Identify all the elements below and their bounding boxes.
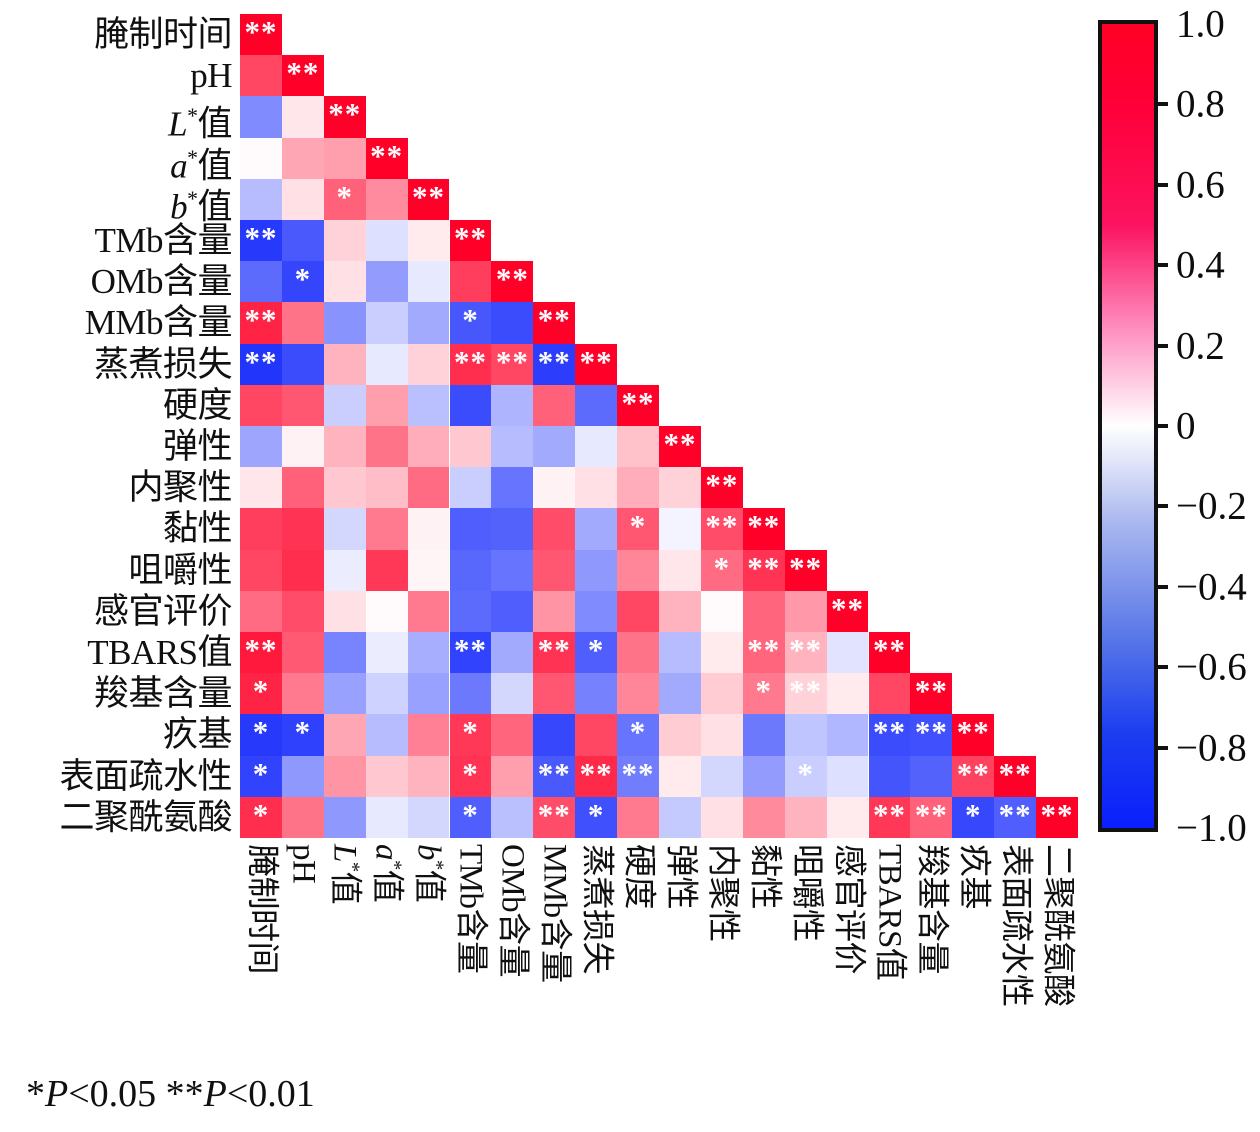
significance-marker: ** [659, 426, 701, 467]
heatmap-cell [366, 261, 408, 302]
significance-marker: * [450, 756, 492, 797]
significance-marker: ** [240, 220, 282, 261]
significance-marker: ** [533, 756, 575, 797]
col-label-17: 疚基 [952, 844, 994, 1069]
heatmap-cell [366, 550, 408, 591]
col-label-3: a*值 [366, 844, 408, 1069]
colorbar: 1.00.80.60.40.20−0.2−0.4−0.6−0.8−1.0 [1098, 20, 1164, 836]
legend-p-two: P [204, 1073, 227, 1115]
colorbar-tick-label: −1.0 [1176, 809, 1247, 848]
significance-marker: ** [1036, 797, 1078, 838]
heatmap-cell [491, 756, 533, 797]
heatmap-cell [491, 673, 533, 714]
heatmap-cell: * [701, 550, 743, 591]
heatmap-cell [408, 220, 450, 261]
heatmap-cell [785, 797, 827, 838]
heatmap-cell [324, 344, 366, 385]
heatmap-cell [659, 467, 701, 508]
heatmap-cell [282, 756, 324, 797]
heatmap-cell: * [743, 673, 785, 714]
significance-marker: * [240, 756, 282, 797]
heatmap-cell [282, 179, 324, 220]
col-label-9: 硬度 [617, 844, 659, 1069]
heatmap-cell [743, 714, 785, 755]
heatmap-cell: ** [533, 302, 575, 343]
heatmap-cell [491, 426, 533, 467]
heatmap-cell [491, 467, 533, 508]
significance-marker: * [701, 550, 743, 591]
heatmap-cell [450, 385, 492, 426]
col-label-12: 黏性 [743, 844, 785, 1069]
significance-marker: * [282, 261, 324, 302]
heatmap-cell [324, 591, 366, 632]
heatmap-cell [701, 714, 743, 755]
heatmap-cell: ** [533, 756, 575, 797]
colorbar-tick-label: −0.4 [1176, 567, 1247, 606]
heatmap-cell [324, 261, 366, 302]
heatmap-cell [491, 591, 533, 632]
significance-marker: ** [869, 797, 911, 838]
heatmap-cell [408, 385, 450, 426]
row-label-10: 弹性 [163, 426, 232, 467]
col-label-0: 腌制时间 [240, 844, 282, 1069]
heatmap-cell [743, 591, 785, 632]
significance-marker: ** [533, 302, 575, 343]
heatmap-cell [366, 220, 408, 261]
heatmap-cell [533, 467, 575, 508]
col-label-2: L*值 [324, 844, 366, 1069]
heatmap-cell [324, 467, 366, 508]
row-label-0: 腌制时间 [94, 14, 232, 55]
row-label-4: b*值 [170, 179, 232, 220]
heatmap-cell [366, 426, 408, 467]
heatmap-cell [533, 508, 575, 549]
heatmap-cell [575, 550, 617, 591]
heatmap-cell [701, 632, 743, 673]
heatmap-cell [324, 385, 366, 426]
heatmap-cell: ** [701, 508, 743, 549]
heatmap-cell [324, 426, 366, 467]
significance-marker: ** [450, 344, 492, 385]
heatmap-cell [617, 797, 659, 838]
heatmap-cell [617, 426, 659, 467]
row-label-19: 二聚酰氨酸 [59, 797, 232, 838]
heatmap-cell [617, 550, 659, 591]
legend-star-one: * [26, 1073, 45, 1115]
significance-marker: ** [869, 714, 911, 755]
heatmap-cell: ** [701, 467, 743, 508]
colorbar-tick [1154, 585, 1168, 589]
heatmap-cell: ** [659, 426, 701, 467]
heatmap-cell: ** [240, 220, 282, 261]
heatmap-cell [450, 673, 492, 714]
heatmap-cell [450, 550, 492, 591]
heatmap-cell [282, 550, 324, 591]
heatmap-cell: * [575, 632, 617, 673]
row-label-5: TMb含量 [94, 220, 232, 261]
heatmap-cell [240, 591, 282, 632]
heatmap-cell [575, 673, 617, 714]
heatmap-cell: ** [450, 220, 492, 261]
heatmap-cell [324, 797, 366, 838]
col-label-15: TBARS值 [869, 844, 911, 1069]
heatmap-cell [743, 797, 785, 838]
significance-marker: ** [282, 55, 324, 96]
heatmap-cell [491, 508, 533, 549]
heatmap-cell [282, 344, 324, 385]
significance-marker: ** [366, 138, 408, 179]
significance-marker: ** [827, 591, 869, 632]
heatmap-cell [450, 426, 492, 467]
heatmap-cell [869, 756, 911, 797]
heatmap-cell: ** [785, 632, 827, 673]
heatmap-cell: ** [617, 385, 659, 426]
heatmap-cell: ** [869, 714, 911, 755]
row-label-2: L*值 [168, 96, 232, 137]
heatmap-cell [910, 756, 952, 797]
significance-marker: ** [450, 632, 492, 673]
heatmap-cell [659, 756, 701, 797]
row-label-17: 疚基 [163, 714, 232, 755]
significance-marker: ** [324, 96, 366, 137]
significance-marker: * [617, 714, 659, 755]
heatmap-cell: ** [366, 138, 408, 179]
heatmap-cell [701, 756, 743, 797]
heatmap-cell [240, 550, 282, 591]
heatmap-cell [324, 756, 366, 797]
heatmap-cell [827, 673, 869, 714]
heatmap-cell [450, 508, 492, 549]
colorbar-tick [1154, 102, 1168, 106]
heatmap-cell [659, 508, 701, 549]
legend-star-two: ** [166, 1073, 204, 1115]
heatmap-cell [575, 508, 617, 549]
heatmap-cell: ** [450, 344, 492, 385]
heatmap-cell [827, 797, 869, 838]
colorbar-tick-label: 0.8 [1176, 85, 1225, 124]
heatmap-cell: ** [282, 55, 324, 96]
significance-marker: ** [240, 344, 282, 385]
heatmap-cell: ** [785, 550, 827, 591]
heatmap-cell [869, 673, 911, 714]
heatmap-cell [366, 179, 408, 220]
heatmap-grid: ****************************************… [240, 14, 1078, 838]
heatmap-cell [324, 508, 366, 549]
heatmap-cell: ** [952, 756, 994, 797]
heatmap-cell: * [952, 797, 994, 838]
col-label-4: b*值 [408, 844, 450, 1069]
col-label-18: 表面疏水性 [994, 844, 1036, 1069]
heatmap-cell: ** [324, 96, 366, 137]
significance-marker: ** [575, 756, 617, 797]
heatmap-cell [701, 673, 743, 714]
heatmap-cell [575, 385, 617, 426]
significance-marker: ** [450, 220, 492, 261]
heatmap-cell [366, 467, 408, 508]
row-label-8: 蒸煮损失 [94, 344, 232, 385]
row-label-11: 内聚性 [128, 467, 232, 508]
significance-marker: ** [910, 714, 952, 755]
col-label-5: TMb含量 [450, 844, 492, 1069]
heatmap-cell [827, 756, 869, 797]
heatmap-cell [617, 673, 659, 714]
colorbar-gradient [1098, 20, 1158, 832]
significance-marker: * [575, 632, 617, 673]
heatmap-cell: ** [491, 344, 533, 385]
heatmap-cell [282, 426, 324, 467]
significance-marker: * [450, 302, 492, 343]
heatmap-cell [408, 797, 450, 838]
heatmap-cell [408, 508, 450, 549]
heatmap-cell [785, 714, 827, 755]
legend-p-one: P [45, 1073, 68, 1115]
heatmap-cell [659, 632, 701, 673]
colorbar-tick [1154, 746, 1168, 750]
colorbar-tick-label: −0.2 [1176, 487, 1247, 526]
heatmap-cell: * [282, 714, 324, 755]
heatmap-cell: ** [533, 344, 575, 385]
significance-marker: ** [617, 756, 659, 797]
heatmap-cell [408, 550, 450, 591]
heatmap-cell [408, 467, 450, 508]
row-axis-labels: 腌制时间pHL*值a*值b*值TMb含量OMb含量MMb含量蒸煮损失硬度弹性内聚… [0, 14, 236, 838]
heatmap-cell [659, 673, 701, 714]
heatmap-cell [366, 591, 408, 632]
heatmap-cell [282, 138, 324, 179]
significance-marker: ** [743, 508, 785, 549]
heatmap-cell [324, 550, 366, 591]
colorbar-tick [1154, 344, 1168, 348]
colorbar-tick-label: −0.6 [1176, 648, 1247, 687]
colorbar-tick-label: 0.6 [1176, 165, 1225, 204]
heatmap-cell [785, 591, 827, 632]
row-label-3: a*值 [170, 138, 232, 179]
row-label-12: 黏性 [163, 508, 232, 549]
significance-marker: ** [910, 797, 952, 838]
significance-marker: ** [617, 385, 659, 426]
heatmap-cell [282, 508, 324, 549]
heatmap-cell [240, 96, 282, 137]
row-label-15: TBARS值 [87, 632, 232, 673]
heatmap-cell [366, 344, 408, 385]
significance-marker: ** [743, 550, 785, 591]
heatmap-cell: * [324, 179, 366, 220]
significance-marker: * [240, 714, 282, 755]
heatmap-cell [659, 550, 701, 591]
column-axis-labels: 腌制时间pHL*值a*值b*值TMb含量OMb含量MMb含量蒸煮损失硬度弹性内聚… [240, 844, 1080, 1069]
heatmap-cell [282, 797, 324, 838]
heatmap-cell [282, 632, 324, 673]
heatmap-cell: * [450, 302, 492, 343]
significance-marker: ** [743, 632, 785, 673]
heatmap-cell [366, 632, 408, 673]
heatmap-cell [491, 302, 533, 343]
heatmap-cell: * [617, 714, 659, 755]
col-label-6: OMb含量 [491, 844, 533, 1069]
significance-marker: ** [533, 797, 575, 838]
heatmap-cell [324, 673, 366, 714]
colorbar-tick [1154, 665, 1168, 669]
significance-marker: * [282, 714, 324, 755]
heatmap-cell: ** [994, 756, 1036, 797]
heatmap-cell [617, 591, 659, 632]
heatmap-cell [827, 714, 869, 755]
row-label-9: 硬度 [163, 385, 232, 426]
heatmap-cell: * [282, 261, 324, 302]
heatmap-cell [533, 550, 575, 591]
heatmap-cell [827, 632, 869, 673]
heatmap-cell [282, 673, 324, 714]
significance-marker: * [952, 797, 994, 838]
heatmap-cell [617, 632, 659, 673]
heatmap-cell [491, 714, 533, 755]
heatmap-cell [408, 673, 450, 714]
colorbar-tick-label: 0 [1176, 407, 1196, 446]
heatmap-cell: ** [450, 632, 492, 673]
colorbar-tick [1154, 504, 1168, 508]
heatmap-cell [366, 756, 408, 797]
heatmap-cell [240, 138, 282, 179]
heatmap-cell: * [575, 797, 617, 838]
significance-marker: ** [701, 508, 743, 549]
heatmap-cell: ** [869, 797, 911, 838]
heatmap-cell [575, 426, 617, 467]
col-label-11: 内聚性 [701, 844, 743, 1069]
significance-marker: * [450, 714, 492, 755]
heatmap-cell [282, 302, 324, 343]
heatmap-cell: ** [910, 673, 952, 714]
heatmap-cell: ** [240, 302, 282, 343]
heatmap-cell: * [240, 797, 282, 838]
heatmap-cell [324, 632, 366, 673]
row-label-18: 表面疏水性 [59, 756, 232, 797]
heatmap-cell [491, 797, 533, 838]
colorbar-tick-label: 1.0 [1176, 5, 1225, 44]
heatmap-cell [240, 55, 282, 96]
col-label-13: 咀嚼性 [785, 844, 827, 1069]
heatmap-cell [575, 591, 617, 632]
significance-marker: ** [910, 673, 952, 714]
legend-thresh-one: <0.05 [68, 1073, 165, 1115]
significance-marker: ** [952, 756, 994, 797]
significance-marker: ** [408, 179, 450, 220]
significance-marker: ** [952, 714, 994, 755]
heatmap-cell [240, 426, 282, 467]
heatmap-cell [408, 591, 450, 632]
row-label-7: MMb含量 [85, 302, 232, 343]
heatmap-cell [575, 714, 617, 755]
heatmap-cell: ** [827, 591, 869, 632]
significance-legend: *P<0.05 **P<0.01 [26, 1072, 315, 1116]
significance-marker: ** [785, 673, 827, 714]
significance-marker: * [575, 797, 617, 838]
colorbar-tick [1154, 424, 1168, 428]
significance-marker: * [617, 508, 659, 549]
heatmap-cell [659, 591, 701, 632]
legend-thresh-two: <0.01 [227, 1073, 315, 1115]
heatmap-cell: ** [575, 344, 617, 385]
heatmap-cell [659, 797, 701, 838]
heatmap-cell [701, 797, 743, 838]
heatmap-cell [366, 302, 408, 343]
significance-marker: ** [491, 344, 533, 385]
heatmap-cell [533, 426, 575, 467]
heatmap-cell [533, 673, 575, 714]
colorbar-tick-label: −0.8 [1176, 728, 1247, 767]
heatmap-cell [324, 302, 366, 343]
heatmap-cell [408, 632, 450, 673]
row-label-16: 羧基含量 [94, 673, 232, 714]
heatmap-cell [324, 714, 366, 755]
heatmap-cell [491, 632, 533, 673]
col-label-8: 蒸煮损失 [575, 844, 617, 1069]
heatmap-cell: ** [240, 14, 282, 55]
heatmap-cell [408, 261, 450, 302]
heatmap-cell: ** [408, 179, 450, 220]
heatmap-cell: ** [743, 508, 785, 549]
heatmap-cell: ** [575, 756, 617, 797]
correlation-heatmap-figure: 腌制时间pHL*值a*值b*值TMb含量OMb含量MMb含量蒸煮损失硬度弹性内聚… [0, 0, 1260, 1132]
significance-marker: ** [240, 632, 282, 673]
colorbar-tick-label: 0.2 [1176, 326, 1225, 365]
heatmap-cell: ** [743, 550, 785, 591]
heatmap-cell: * [785, 756, 827, 797]
heatmap-cell [450, 261, 492, 302]
col-label-7: MMb含量 [533, 844, 575, 1069]
heatmap-cell [324, 220, 366, 261]
heatmap-cell [282, 96, 324, 137]
colorbar-tick-label: 0.4 [1176, 246, 1225, 285]
heatmap-cell: ** [240, 632, 282, 673]
heatmap-cell: ** [240, 344, 282, 385]
heatmap-cell [282, 220, 324, 261]
col-label-14: 感官评价 [827, 844, 869, 1069]
heatmap-cell [366, 508, 408, 549]
heatmap-cell [659, 714, 701, 755]
heatmap-cell [240, 467, 282, 508]
significance-marker: ** [994, 797, 1036, 838]
heatmap-cell: ** [1036, 797, 1078, 838]
heatmap-cell: * [617, 508, 659, 549]
heatmap-cell: ** [994, 797, 1036, 838]
col-label-19: 二聚酰氨酸 [1036, 844, 1078, 1069]
heatmap-cell: ** [491, 261, 533, 302]
heatmap-cell [240, 385, 282, 426]
heatmap-cell [408, 714, 450, 755]
significance-marker: ** [240, 14, 282, 55]
significance-marker: ** [994, 756, 1036, 797]
significance-marker: ** [491, 261, 533, 302]
significance-marker: * [450, 797, 492, 838]
heatmap-cell: ** [910, 797, 952, 838]
heatmap-cell [240, 508, 282, 549]
colorbar-tick [1154, 263, 1168, 267]
col-label-10: 弹性 [659, 844, 701, 1069]
heatmap-cell [533, 714, 575, 755]
heatmap-cell [491, 550, 533, 591]
heatmap-cell [743, 756, 785, 797]
colorbar-tick [1154, 183, 1168, 187]
row-label-1: pH [190, 55, 232, 96]
heatmap-cell: ** [617, 756, 659, 797]
heatmap-cell [324, 138, 366, 179]
heatmap-cell [533, 591, 575, 632]
heatmap-cell [366, 673, 408, 714]
row-label-6: OMb含量 [91, 261, 232, 302]
heatmap-cell: ** [743, 632, 785, 673]
row-label-14: 感官评价 [94, 591, 232, 632]
heatmap-cell [366, 797, 408, 838]
